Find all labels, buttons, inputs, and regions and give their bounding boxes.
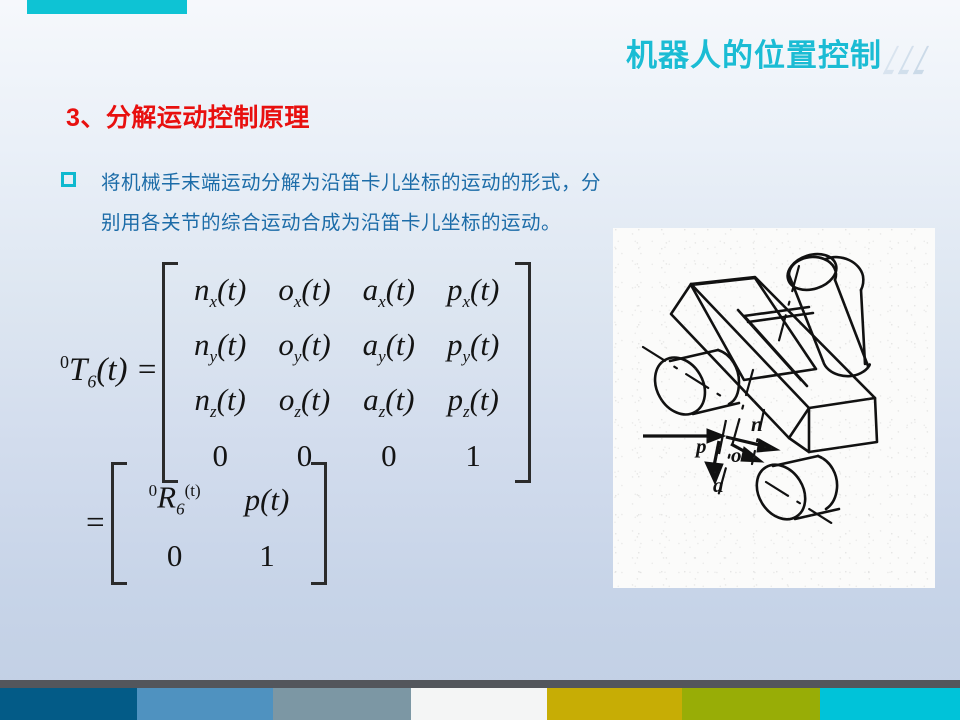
matrix-cell-pz: pz(t)	[431, 378, 515, 433]
page-title: 机器人的位置控制	[626, 36, 882, 76]
equation-2-operator: =	[86, 505, 111, 542]
equation-2: = 0R6(t) p(t) 0 1	[86, 462, 327, 585]
bottom-color-bar	[0, 688, 960, 720]
table-row: ny(t) oy(t) ay(t) py(t)	[178, 323, 515, 378]
eq1-base: T	[69, 352, 87, 388]
matrix-cell-oz: oz(t)	[262, 378, 346, 433]
bottom-divider	[0, 680, 960, 688]
slide-header: 机器人的位置控制	[0, 36, 960, 82]
eq1-presuperscript: 0	[60, 352, 69, 372]
table-row: nx(t) ox(t) ax(t) px(t)	[178, 268, 515, 323]
figure-label-n: n	[751, 412, 763, 436]
matrix-cell-px: px(t)	[431, 268, 515, 323]
equation-1-lhs: 0T6(t) =	[60, 352, 162, 393]
chevron-left-icon	[886, 48, 940, 70]
matrix-cell-ay: ay(t)	[347, 323, 431, 378]
figure-label-p: p	[694, 434, 707, 458]
matrix-cell-r4c4: 1	[431, 434, 515, 477]
bottom-bar-swatch-dark-blue	[0, 688, 137, 720]
bottom-bar-swatch-white	[411, 688, 547, 720]
eq1-arg: (t)	[96, 352, 127, 388]
bottom-bar-swatch-gold	[547, 688, 682, 720]
table-row: 0R6(t) p(t)	[127, 468, 312, 533]
eq1-subscript: 6	[87, 372, 96, 392]
bottom-bar-swatch-olive-green	[682, 688, 820, 720]
matrix-cell-py: py(t)	[431, 323, 515, 378]
matrix-R6-table: 0R6(t) p(t) 0 1	[127, 468, 312, 579]
matrix-cell-ny: ny(t)	[178, 323, 262, 378]
matrix-cell-zero: 0	[127, 533, 223, 579]
slide-canvas: 机器人的位置控制 3、分解运动控制原理 将机械手末端运动分解为沿笛卡儿坐标的运动…	[0, 0, 960, 720]
equation-1: 0T6(t) = nx(t) ox(t) ax(t) px(t) ny(t) o…	[60, 262, 620, 483]
table-row: nz(t) oz(t) az(t) pz(t)	[178, 378, 515, 433]
bullet-paragraph: 将机械手末端运动分解为沿笛卡儿坐标的运动的形式，分别用各关节的综合运动合成为沿笛…	[57, 163, 617, 243]
matrix-cell-ax: ax(t)	[347, 268, 431, 323]
matrix-cell-one: 1	[223, 533, 312, 579]
matrix-cell-nx: nx(t)	[178, 268, 262, 323]
robot-gripper-drawing: n p o a	[613, 228, 935, 588]
robot-gripper-figure: n p o a	[613, 228, 935, 588]
bullet-text: 将机械手末端运动分解为沿笛卡儿坐标的运动的形式，分别用各关节的综合运动合成为沿笛…	[101, 163, 617, 243]
figure-label-a: a	[713, 473, 724, 497]
matrix-cell-r4c3: 0	[347, 434, 431, 477]
matrix-T6-table: nx(t) ox(t) ax(t) px(t) ny(t) oy(t) ay(t…	[178, 268, 515, 477]
bottom-bar-swatch-medium-blue	[137, 688, 273, 720]
math-equations: 0T6(t) = nx(t) ox(t) ax(t) px(t) ny(t) o…	[60, 262, 620, 483]
eq1-operator: =	[136, 352, 158, 388]
matrix-cell-R6: 0R6(t)	[127, 468, 223, 533]
matrix-cell-nz: nz(t)	[178, 378, 262, 433]
matrix-cell-pt: p(t)	[223, 468, 312, 533]
figure-label-o: o	[731, 443, 742, 467]
matrix-cell-oy: oy(t)	[262, 323, 346, 378]
matrix-cell-ox: ox(t)	[262, 268, 346, 323]
section-heading: 3、分解运动控制原理	[66, 98, 310, 134]
bullet-square-icon	[61, 172, 76, 187]
table-row: 0 1	[127, 533, 312, 579]
matrix-T6: nx(t) ox(t) ax(t) px(t) ny(t) oy(t) ay(t…	[162, 262, 531, 483]
matrix-cell-az: az(t)	[347, 378, 431, 433]
bottom-bar-swatch-slate-blue	[273, 688, 411, 720]
top-accent-tab	[27, 0, 187, 14]
bottom-bar-swatch-cyan	[820, 688, 960, 720]
matrix-R6-p: 0R6(t) p(t) 0 1	[111, 462, 328, 585]
